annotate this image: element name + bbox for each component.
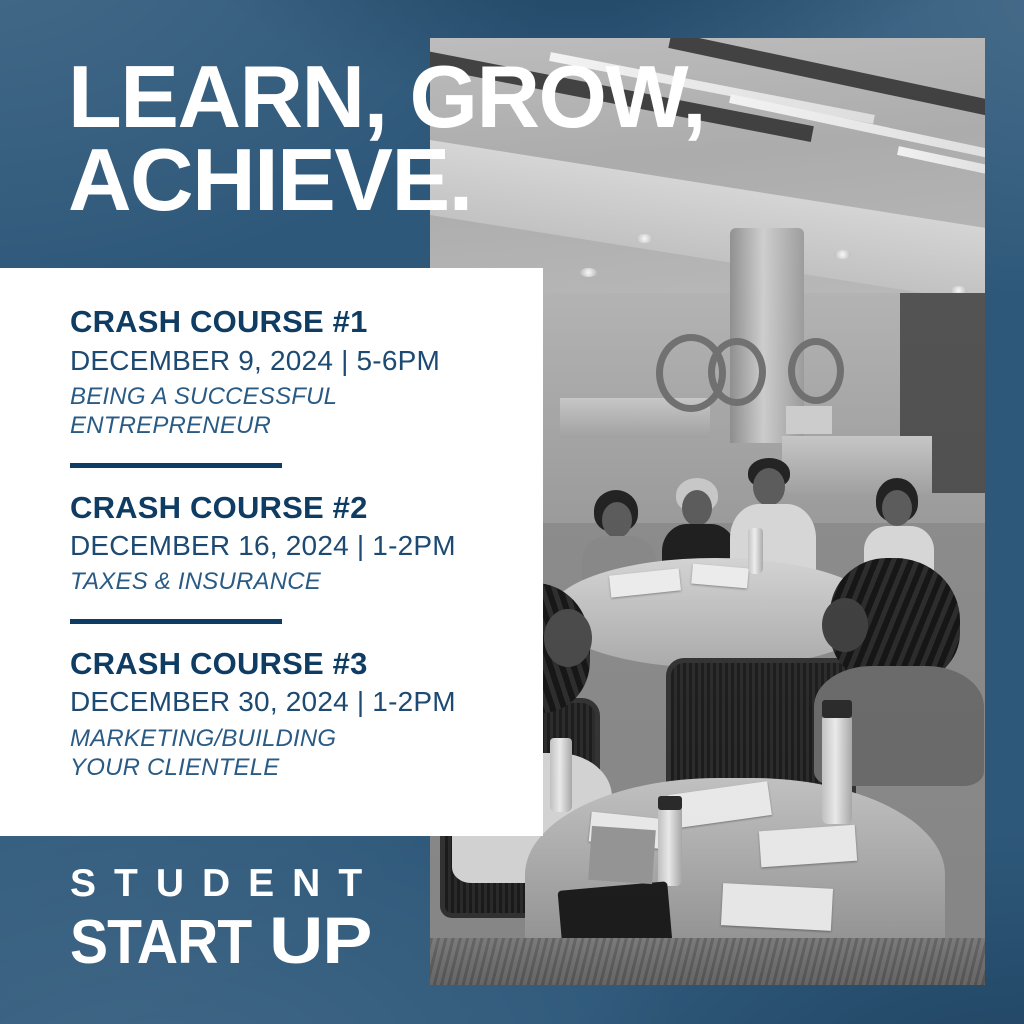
course-panel: CRASH COURSE #1 DECEMBER 9, 2024 | 5-6PM… [0,268,543,836]
photo-bottle-cap [822,700,852,718]
course-title: CRASH COURSE #3 [70,646,503,683]
course-item-2: CRASH COURSE #2 DECEMBER 16, 2024 | 1-2P… [70,490,503,597]
course-divider [70,619,282,624]
course-divider [70,463,282,468]
photo-paper [721,883,833,931]
course-title: CRASH COURSE #2 [70,490,503,527]
photo-bottle [550,738,572,812]
photo-downlight [834,250,851,259]
course-title: CRASH COURSE #1 [70,304,503,341]
course-list: CRASH COURSE #1 DECEMBER 9, 2024 | 5-6PM… [70,304,503,782]
logo-word-start: START [70,912,251,974]
photo-bottle-cap [658,796,682,810]
photo-bag [588,826,656,884]
photo-paper [759,825,857,868]
course-description: BEING A SUCCESSFUL ENTREPRENEUR [70,382,503,441]
photo-books [786,406,832,434]
photo-wall-art [708,338,766,406]
photo-wall-art [788,338,844,404]
student-startup-logo: STUDENT START UP [70,864,380,974]
photo-bottle [748,528,763,574]
course-date: DECEMBER 16, 2024 | 1-2PM [70,528,503,564]
photo-bottle [822,714,852,824]
course-item-3: CRASH COURSE #3 DECEMBER 30, 2024 | 1-2P… [70,646,503,783]
photo-floor [430,938,985,985]
course-date: DECEMBER 30, 2024 | 1-2PM [70,684,503,720]
course-description: MARKETING/BUILDING YOUR CLIENTELE [70,724,503,783]
photo-downlight [636,234,653,243]
logo-word-up: UP [269,907,371,973]
course-description: TAXES & INSURANCE [70,567,503,596]
flyer-canvas: LEARN, GROW, ACHIEVE. CRASH COURSE #1 DE… [0,0,1024,1024]
photo-bottle [658,806,682,886]
logo-line-startup: START UP [70,907,380,974]
logo-line-student: STUDENT [70,864,380,903]
page-title: LEARN, GROW, ACHIEVE. [68,56,968,221]
photo-downlight [580,268,597,277]
course-item-1: CRASH COURSE #1 DECEMBER 9, 2024 | 5-6PM… [70,304,503,441]
course-date: DECEMBER 9, 2024 | 5-6PM [70,343,503,379]
